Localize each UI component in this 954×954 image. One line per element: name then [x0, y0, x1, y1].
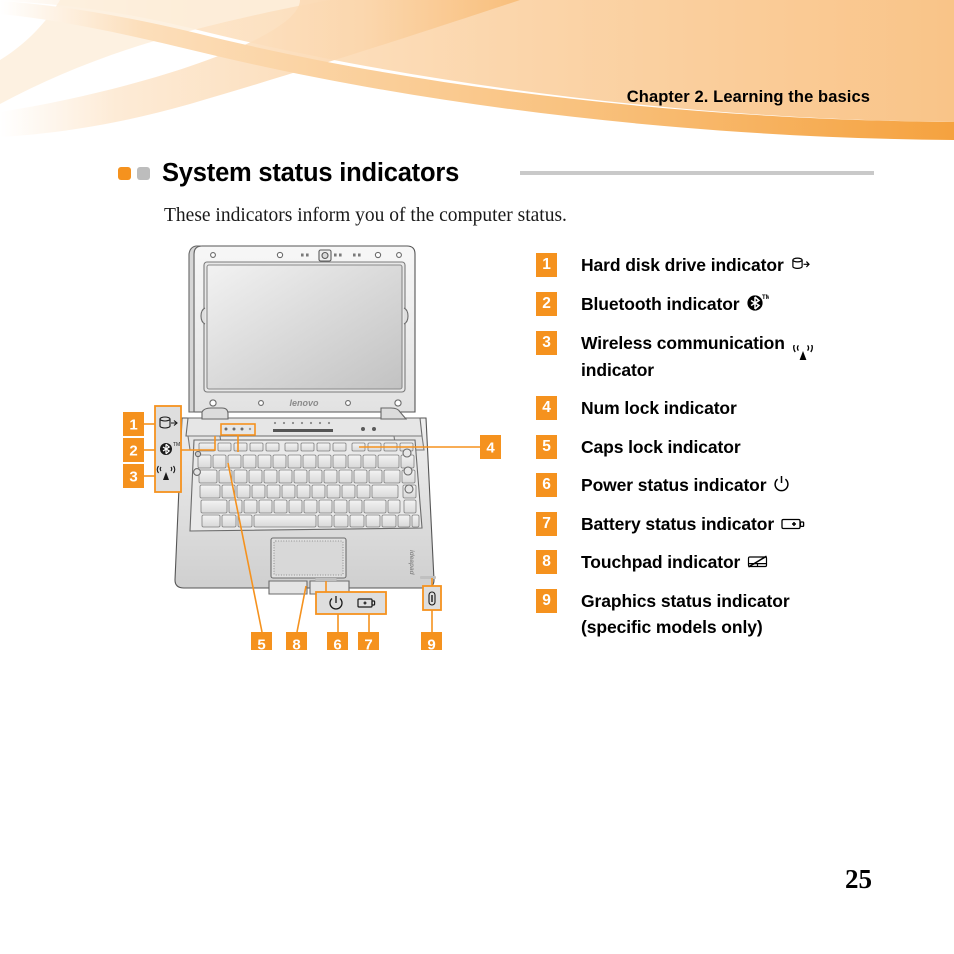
- svg-text:4: 4: [486, 440, 495, 457]
- legend-label-8: Touchpad indicator: [581, 549, 768, 576]
- callout-badge-2: 2: [123, 438, 144, 462]
- laptop-illustration: lenovo: [110, 240, 530, 650]
- legend-label-6: Power status indicator: [581, 472, 790, 499]
- legend-label-text: Touchpad indicator: [581, 549, 740, 576]
- indicator-legend-list: 1 Hard disk drive indicator 2 Bluetooth …: [536, 252, 936, 653]
- bullet-square-gray-icon: [137, 167, 150, 180]
- legend-label-9: Graphics status indicator (specific mode…: [581, 588, 790, 641]
- callout-badge-3: 3: [123, 464, 144, 488]
- legend-label-2: Bluetooth indicator TM: [581, 291, 769, 319]
- svg-text:5: 5: [257, 637, 265, 651]
- laptop-lid: lenovo: [189, 246, 415, 412]
- legend-label-text: Graphics status indicator (specific mode…: [581, 588, 790, 641]
- hard-disk-icon: [791, 253, 810, 280]
- legend-item-6: 6 Power status indicator: [536, 472, 936, 499]
- legend-label-text: Battery status indicator: [581, 511, 774, 538]
- callout-badge-8: 8: [286, 632, 307, 650]
- wireless-icon: [792, 344, 814, 371]
- power-icon: [773, 473, 790, 500]
- header-banner: [0, 0, 954, 140]
- legend-item-9: 9 Graphics status indicator (specific mo…: [536, 588, 936, 641]
- chapter-title: Chapter 2. Learning the basics: [627, 88, 870, 107]
- legend-item-8: 8 Touchpad indicator: [536, 549, 936, 576]
- legend-label-7: Battery status indicator: [581, 511, 805, 538]
- svg-text:3: 3: [129, 469, 137, 486]
- legend-item-5: 5 Caps lock indicator: [536, 434, 936, 461]
- legend-label-text: Num lock indicator: [581, 395, 737, 422]
- legend-badge-3: 3: [536, 331, 557, 355]
- legend-item-1: 1 Hard disk drive indicator: [536, 252, 936, 279]
- ideapad-logo: ideapad: [408, 550, 415, 576]
- touchpad-left-button: [269, 581, 307, 594]
- callout-badge-9: 9: [421, 632, 442, 650]
- power-battery-icon-box: [316, 592, 386, 614]
- legend-badge-2: 2: [536, 292, 557, 316]
- callout-badge-6: 6: [327, 632, 348, 650]
- lenovo-logo: lenovo: [289, 398, 319, 408]
- section-heading: System status indicators: [118, 158, 459, 188]
- legend-label-text: Wireless communication indicator: [581, 330, 785, 383]
- callout-badge-1: 1: [123, 412, 144, 436]
- bullet-square-orange-icon: [118, 167, 131, 180]
- legend-badge-9: 9: [536, 589, 557, 613]
- svg-text:TM: TM: [173, 442, 180, 448]
- heading-divider: [520, 171, 874, 175]
- legend-label-4: Num lock indicator: [581, 395, 737, 422]
- laptop-screen: [207, 265, 402, 389]
- legend-badge-4: 4: [536, 396, 557, 420]
- touchpad-icon: [747, 550, 768, 577]
- bluetooth-icon: TM: [747, 292, 769, 320]
- legend-badge-7: 7: [536, 512, 557, 536]
- battery-icon: [781, 512, 805, 539]
- callout-badge-5: 5: [251, 632, 272, 650]
- svg-text:7: 7: [364, 637, 372, 651]
- legend-label-text: Caps lock indicator: [581, 434, 741, 461]
- legend-badge-8: 8: [536, 550, 557, 574]
- svg-text:2: 2: [129, 443, 137, 460]
- callout-badge-4: 4: [480, 435, 501, 459]
- svg-text:9: 9: [427, 637, 435, 651]
- legend-badge-1: 1: [536, 253, 557, 277]
- legend-item-2: 2 Bluetooth indicator TM: [536, 291, 936, 319]
- legend-label-5: Caps lock indicator: [581, 434, 741, 461]
- svg-text:TM: TM: [762, 295, 769, 301]
- intro-paragraph: These indicators inform you of the compu…: [164, 205, 567, 227]
- legend-label-1: Hard disk drive indicator: [581, 252, 810, 279]
- legend-item-4: 4 Num lock indicator: [536, 395, 936, 422]
- svg-text:6: 6: [333, 637, 341, 651]
- legend-label-text: Bluetooth indicator: [581, 291, 740, 318]
- svg-text:8: 8: [292, 637, 300, 651]
- legend-item-3: 3 Wireless communication indicator: [536, 330, 936, 383]
- legend-badge-5: 5: [536, 435, 557, 459]
- legend-label-text: Hard disk drive indicator: [581, 252, 784, 279]
- laptop-keyboard: [190, 440, 422, 531]
- legend-label-3: Wireless communication indicator: [581, 330, 814, 383]
- legend-label-text: Power status indicator: [581, 472, 766, 499]
- page-title: System status indicators: [162, 159, 459, 188]
- page-number: 25: [845, 864, 872, 895]
- callout-badge-7: 7: [358, 632, 379, 650]
- svg-text:1: 1: [129, 417, 137, 434]
- legend-badge-6: 6: [536, 473, 557, 497]
- legend-item-7: 7 Battery status indicator: [536, 511, 936, 538]
